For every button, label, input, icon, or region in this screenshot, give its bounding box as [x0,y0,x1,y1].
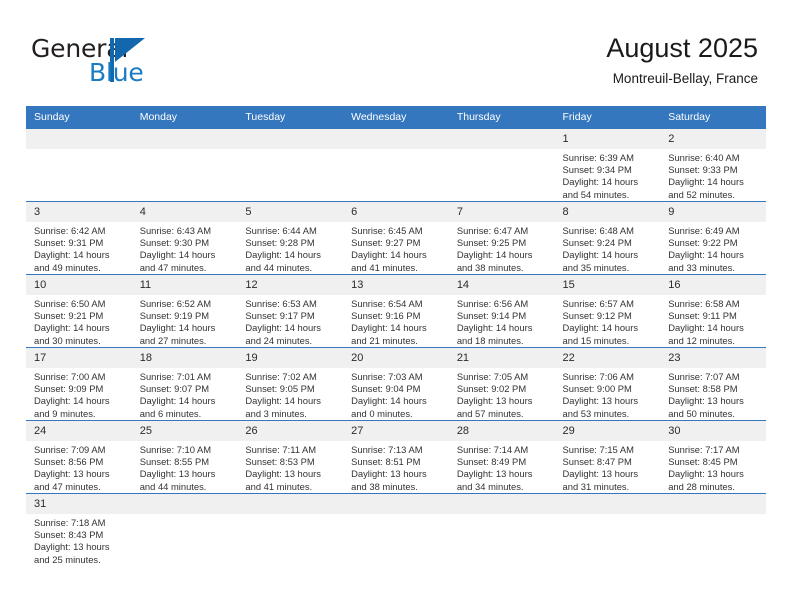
daylight-text-line1: Daylight: 14 hours [563,176,655,188]
calendar-day-cell[interactable]: 8Sunrise: 6:48 AMSunset: 9:24 PMDaylight… [555,202,661,275]
weekday-header-wednesday: Wednesday [343,106,449,129]
day-info: Sunrise: 7:05 AMSunset: 9:02 PMDaylight:… [449,368,555,420]
calendar-day-cell[interactable]: 28Sunrise: 7:14 AMSunset: 8:49 PMDayligh… [449,421,555,494]
daylight-text-line1: Daylight: 13 hours [245,468,337,480]
sunrise-text: Sunrise: 6:56 AM [457,298,549,310]
daylight-text-line1: Daylight: 14 hours [34,322,126,334]
day-number: 23 [660,348,766,368]
sunset-text: Sunset: 9:19 PM [140,310,232,322]
sunrise-text: Sunrise: 7:10 AM [140,444,232,456]
daylight-text-line1: Daylight: 14 hours [668,249,760,261]
day-info: Sunrise: 6:47 AMSunset: 9:25 PMDaylight:… [449,222,555,274]
day-info: Sunrise: 6:53 AMSunset: 9:17 PMDaylight:… [237,295,343,347]
daylight-text-line2: and 34 minutes. [457,481,549,493]
day-info: Sunrise: 6:48 AMSunset: 9:24 PMDaylight:… [555,222,661,274]
calendar-day-cell[interactable]: 19Sunrise: 7:02 AMSunset: 9:05 PMDayligh… [237,348,343,421]
calendar-day-cell[interactable]: 24Sunrise: 7:09 AMSunset: 8:56 PMDayligh… [26,421,132,494]
daylight-text-line2: and 21 minutes. [351,335,443,347]
weekday-header-monday: Monday [132,106,238,129]
day-info: Sunrise: 6:58 AMSunset: 9:11 PMDaylight:… [660,295,766,347]
calendar-week-row: 1Sunrise: 6:39 AMSunset: 9:34 PMDaylight… [26,129,766,202]
daylight-text-line2: and 24 minutes. [245,335,337,347]
sunrise-text: Sunrise: 7:05 AM [457,371,549,383]
calendar-cell-empty [26,129,132,202]
calendar-day-cell[interactable]: 17Sunrise: 7:00 AMSunset: 9:09 PMDayligh… [26,348,132,421]
day-info: Sunrise: 7:18 AMSunset: 8:43 PMDaylight:… [26,514,132,566]
daylight-text-line1: Daylight: 14 hours [563,322,655,334]
calendar-day-cell[interactable]: 9Sunrise: 6:49 AMSunset: 9:22 PMDaylight… [660,202,766,275]
daylight-text-line1: Daylight: 14 hours [668,322,760,334]
sunrise-text: Sunrise: 6:39 AM [563,152,655,164]
day-number: 20 [343,348,449,368]
calendar-day-cell[interactable]: 20Sunrise: 7:03 AMSunset: 9:04 PMDayligh… [343,348,449,421]
weekday-header-thursday: Thursday [449,106,555,129]
calendar-day-cell[interactable]: 2Sunrise: 6:40 AMSunset: 9:33 PMDaylight… [660,129,766,202]
day-info: Sunrise: 7:03 AMSunset: 9:04 PMDaylight:… [343,368,449,420]
sunrise-text: Sunrise: 7:15 AM [563,444,655,456]
day-info: Sunrise: 7:02 AMSunset: 9:05 PMDaylight:… [237,368,343,420]
daylight-text-line2: and 38 minutes. [457,262,549,274]
calendar-week-row: 24Sunrise: 7:09 AMSunset: 8:56 PMDayligh… [26,421,766,494]
sunrise-text: Sunrise: 6:40 AM [668,152,760,164]
sunset-text: Sunset: 8:47 PM [563,456,655,468]
daylight-text-line1: Daylight: 13 hours [668,468,760,480]
day-number [449,494,555,514]
title-block: August 2025 Montreuil-Bellay, France [606,32,758,88]
sunset-text: Sunset: 9:12 PM [563,310,655,322]
daylight-text-line1: Daylight: 14 hours [351,249,443,261]
calendar-day-cell[interactable]: 5Sunrise: 6:44 AMSunset: 9:28 PMDaylight… [237,202,343,275]
daylight-text-line1: Daylight: 14 hours [351,322,443,334]
sunset-text: Sunset: 9:31 PM [34,237,126,249]
logo-text-blue: Blue [89,58,144,87]
page-header: General Blue August 2025 Montreuil-Bella… [0,0,792,106]
day-number [343,494,449,514]
daylight-text-line2: and 47 minutes. [140,262,232,274]
sunset-text: Sunset: 8:45 PM [668,456,760,468]
sunrise-text: Sunrise: 6:57 AM [563,298,655,310]
page-subtitle: Montreuil-Bellay, France [606,70,758,88]
day-number: 26 [237,421,343,441]
sunrise-text: Sunrise: 6:47 AM [457,225,549,237]
weekday-header-friday: Friday [555,106,661,129]
sunrise-text: Sunrise: 6:53 AM [245,298,337,310]
sunset-text: Sunset: 9:33 PM [668,164,760,176]
daylight-text-line1: Daylight: 14 hours [34,249,126,261]
daylight-text-line2: and 33 minutes. [668,262,760,274]
daylight-text-line2: and 31 minutes. [563,481,655,493]
day-info: Sunrise: 7:00 AMSunset: 9:09 PMDaylight:… [26,368,132,420]
sunrise-text: Sunrise: 6:49 AM [668,225,760,237]
day-info: Sunrise: 7:17 AMSunset: 8:45 PMDaylight:… [660,441,766,493]
daylight-text-line2: and 53 minutes. [563,408,655,420]
day-info: Sunrise: 6:39 AMSunset: 9:34 PMDaylight:… [555,149,661,201]
calendar-day-cell[interactable]: 16Sunrise: 6:58 AMSunset: 9:11 PMDayligh… [660,275,766,348]
calendar-day-cell[interactable]: 22Sunrise: 7:06 AMSunset: 9:00 PMDayligh… [555,348,661,421]
day-number: 7 [449,202,555,222]
day-number: 15 [555,275,661,295]
sunset-text: Sunset: 9:07 PM [140,383,232,395]
daylight-text-line1: Daylight: 14 hours [563,249,655,261]
daylight-text-line2: and 12 minutes. [668,335,760,347]
daylight-text-line2: and 41 minutes. [351,262,443,274]
calendar-cell-empty [555,494,661,567]
daylight-text-line2: and 28 minutes. [668,481,760,493]
sunrise-text: Sunrise: 6:52 AM [140,298,232,310]
day-number: 24 [26,421,132,441]
calendar-day-cell[interactable]: 15Sunrise: 6:57 AMSunset: 9:12 PMDayligh… [555,275,661,348]
calendar-cell-empty [343,129,449,202]
sunrise-text: Sunrise: 7:14 AM [457,444,549,456]
sunset-text: Sunset: 8:43 PM [34,529,126,541]
daylight-text-line1: Daylight: 14 hours [140,322,232,334]
daylight-text-line2: and 44 minutes. [140,481,232,493]
calendar-day-cell[interactable]: 31Sunrise: 7:18 AMSunset: 8:43 PMDayligh… [26,494,132,567]
day-info: Sunrise: 6:54 AMSunset: 9:16 PMDaylight:… [343,295,449,347]
sunset-text: Sunset: 8:53 PM [245,456,337,468]
daylight-text-line1: Daylight: 13 hours [563,468,655,480]
daylight-text-line2: and 30 minutes. [34,335,126,347]
sunset-text: Sunset: 9:34 PM [563,164,655,176]
day-number: 3 [26,202,132,222]
day-info: Sunrise: 7:01 AMSunset: 9:07 PMDaylight:… [132,368,238,420]
daylight-text-line1: Daylight: 13 hours [351,468,443,480]
calendar-week-row: 10Sunrise: 6:50 AMSunset: 9:21 PMDayligh… [26,275,766,348]
day-info: Sunrise: 7:07 AMSunset: 8:58 PMDaylight:… [660,368,766,420]
day-number: 6 [343,202,449,222]
calendar-day-cell[interactable]: 12Sunrise: 6:53 AMSunset: 9:17 PMDayligh… [237,275,343,348]
calendar-day-cell[interactable]: 10Sunrise: 6:50 AMSunset: 9:21 PMDayligh… [26,275,132,348]
calendar-cell-empty [449,129,555,202]
daylight-text-line2: and 0 minutes. [351,408,443,420]
sunrise-text: Sunrise: 6:50 AM [34,298,126,310]
daylight-text-line2: and 6 minutes. [140,408,232,420]
daylight-text-line1: Daylight: 14 hours [245,249,337,261]
calendar-cell-empty [449,494,555,567]
daylight-text-line2: and 52 minutes. [668,189,760,201]
day-info: Sunrise: 6:56 AMSunset: 9:14 PMDaylight:… [449,295,555,347]
daylight-text-line1: Daylight: 14 hours [140,249,232,261]
calendar-day-cell[interactable]: 30Sunrise: 7:17 AMSunset: 8:45 PMDayligh… [660,421,766,494]
calendar-day-cell[interactable]: 14Sunrise: 6:56 AMSunset: 9:14 PMDayligh… [449,275,555,348]
day-number [555,494,661,514]
sunset-text: Sunset: 9:09 PM [34,383,126,395]
sunrise-text: Sunrise: 7:07 AM [668,371,760,383]
daylight-text-line2: and 47 minutes. [34,481,126,493]
day-info: Sunrise: 6:45 AMSunset: 9:27 PMDaylight:… [343,222,449,274]
sunset-text: Sunset: 9:14 PM [457,310,549,322]
daylight-text-line1: Daylight: 14 hours [668,176,760,188]
daylight-text-line2: and 50 minutes. [668,408,760,420]
sunset-text: Sunset: 9:28 PM [245,237,337,249]
day-number: 29 [555,421,661,441]
day-number: 5 [237,202,343,222]
sunrise-text: Sunrise: 6:42 AM [34,225,126,237]
day-info: Sunrise: 6:43 AMSunset: 9:30 PMDaylight:… [132,222,238,274]
day-number: 16 [660,275,766,295]
day-number: 10 [26,275,132,295]
calendar-day-cell[interactable]: 26Sunrise: 7:11 AMSunset: 8:53 PMDayligh… [237,421,343,494]
daylight-text-line2: and 27 minutes. [140,335,232,347]
calendar-day-cell[interactable]: 3Sunrise: 6:42 AMSunset: 9:31 PMDaylight… [26,202,132,275]
daylight-text-line1: Daylight: 13 hours [457,468,549,480]
day-number: 25 [132,421,238,441]
day-number [660,494,766,514]
sunrise-text: Sunrise: 7:18 AM [34,517,126,529]
sunset-text: Sunset: 9:27 PM [351,237,443,249]
day-info: Sunrise: 6:42 AMSunset: 9:31 PMDaylight:… [26,222,132,274]
daylight-text-line2: and 9 minutes. [34,408,126,420]
sunrise-text: Sunrise: 7:02 AM [245,371,337,383]
daylight-text-line2: and 57 minutes. [457,408,549,420]
sunset-text: Sunset: 9:00 PM [563,383,655,395]
daylight-text-line1: Daylight: 14 hours [457,322,549,334]
day-info: Sunrise: 7:11 AMSunset: 8:53 PMDaylight:… [237,441,343,493]
day-info: Sunrise: 7:09 AMSunset: 8:56 PMDaylight:… [26,441,132,493]
day-number: 9 [660,202,766,222]
day-number: 22 [555,348,661,368]
daylight-text-line1: Daylight: 13 hours [140,468,232,480]
calendar-day-cell[interactable]: 7Sunrise: 6:47 AMSunset: 9:25 PMDaylight… [449,202,555,275]
day-number: 30 [660,421,766,441]
calendar-day-cell[interactable]: 6Sunrise: 6:45 AMSunset: 9:27 PMDaylight… [343,202,449,275]
weekday-header-tuesday: Tuesday [237,106,343,129]
calendar-page: General Blue August 2025 Montreuil-Bella… [0,0,792,612]
sunrise-text: Sunrise: 7:17 AM [668,444,760,456]
calendar-cell-empty [237,494,343,567]
sunrise-text: Sunrise: 6:43 AM [140,225,232,237]
day-number: 13 [343,275,449,295]
day-number: 31 [26,494,132,514]
day-number [132,129,238,149]
sunset-text: Sunset: 9:16 PM [351,310,443,322]
calendar-cell-empty [343,494,449,567]
sunrise-text: Sunrise: 6:54 AM [351,298,443,310]
calendar-cell-empty [132,129,238,202]
calendar-day-cell[interactable]: 18Sunrise: 7:01 AMSunset: 9:07 PMDayligh… [132,348,238,421]
day-number: 17 [26,348,132,368]
calendar-day-cell[interactable]: 4Sunrise: 6:43 AMSunset: 9:30 PMDaylight… [132,202,238,275]
daylight-text-line1: Daylight: 13 hours [34,541,126,553]
sunrise-text: Sunrise: 6:48 AM [563,225,655,237]
sunrise-text: Sunrise: 6:58 AM [668,298,760,310]
calendar-day-cell[interactable]: 27Sunrise: 7:13 AMSunset: 8:51 PMDayligh… [343,421,449,494]
daylight-text-line1: Daylight: 13 hours [34,468,126,480]
sunset-text: Sunset: 9:24 PM [563,237,655,249]
sunrise-text: Sunrise: 6:44 AM [245,225,337,237]
daylight-text-line2: and 41 minutes. [245,481,337,493]
calendar-grid: Sunday Monday Tuesday Wednesday Thursday… [26,106,766,566]
calendar-cell-empty [237,129,343,202]
daylight-text-line2: and 54 minutes. [563,189,655,201]
sunrise-text: Sunrise: 7:06 AM [563,371,655,383]
calendar-cell-empty [132,494,238,567]
calendar-day-cell[interactable]: 21Sunrise: 7:05 AMSunset: 9:02 PMDayligh… [449,348,555,421]
daylight-text-line2: and 38 minutes. [351,481,443,493]
sunset-text: Sunset: 8:51 PM [351,456,443,468]
daylight-text-line2: and 3 minutes. [245,408,337,420]
day-info: Sunrise: 6:44 AMSunset: 9:28 PMDaylight:… [237,222,343,274]
sunrise-text: Sunrise: 7:13 AM [351,444,443,456]
calendar-body: 1Sunrise: 6:39 AMSunset: 9:34 PMDaylight… [26,129,766,567]
day-number: 19 [237,348,343,368]
calendar-week-row: 31Sunrise: 7:18 AMSunset: 8:43 PMDayligh… [26,494,766,567]
daylight-text-line1: Daylight: 14 hours [457,249,549,261]
calendar-day-cell[interactable]: 23Sunrise: 7:07 AMSunset: 8:58 PMDayligh… [660,348,766,421]
sunset-text: Sunset: 9:02 PM [457,383,549,395]
day-info: Sunrise: 7:10 AMSunset: 8:55 PMDaylight:… [132,441,238,493]
general-blue-logo[interactable]: General Blue [31,34,221,90]
calendar-week-row: 3Sunrise: 6:42 AMSunset: 9:31 PMDaylight… [26,202,766,275]
daylight-text-line2: and 44 minutes. [245,262,337,274]
day-number [237,494,343,514]
calendar-day-cell[interactable]: 11Sunrise: 6:52 AMSunset: 9:19 PMDayligh… [132,275,238,348]
sunset-text: Sunset: 8:56 PM [34,456,126,468]
day-info: Sunrise: 6:57 AMSunset: 9:12 PMDaylight:… [555,295,661,347]
sunrise-text: Sunrise: 7:01 AM [140,371,232,383]
sunset-text: Sunset: 8:55 PM [140,456,232,468]
day-info: Sunrise: 7:15 AMSunset: 8:47 PMDaylight:… [555,441,661,493]
day-number: 12 [237,275,343,295]
weekday-header-sunday: Sunday [26,106,132,129]
day-info: Sunrise: 6:49 AMSunset: 9:22 PMDaylight:… [660,222,766,274]
daylight-text-line1: Daylight: 14 hours [245,322,337,334]
day-number: 14 [449,275,555,295]
day-number: 4 [132,202,238,222]
daylight-text-line2: and 25 minutes. [34,554,126,566]
calendar-day-cell[interactable]: 1Sunrise: 6:39 AMSunset: 9:34 PMDaylight… [555,129,661,202]
sunrise-text: Sunrise: 7:11 AM [245,444,337,456]
day-number: 21 [449,348,555,368]
calendar-cell-empty [660,494,766,567]
day-number [449,129,555,149]
day-number: 1 [555,129,661,149]
daylight-text-line1: Daylight: 14 hours [245,395,337,407]
daylight-text-line1: Daylight: 13 hours [563,395,655,407]
daylight-text-line1: Daylight: 13 hours [457,395,549,407]
day-number: 8 [555,202,661,222]
calendar-day-cell[interactable]: 29Sunrise: 7:15 AMSunset: 8:47 PMDayligh… [555,421,661,494]
sunrise-text: Sunrise: 7:03 AM [351,371,443,383]
sunset-text: Sunset: 9:11 PM [668,310,760,322]
day-info: Sunrise: 6:50 AMSunset: 9:21 PMDaylight:… [26,295,132,347]
sunrise-text: Sunrise: 7:09 AM [34,444,126,456]
sunrise-text: Sunrise: 7:00 AM [34,371,126,383]
sunset-text: Sunset: 9:05 PM [245,383,337,395]
day-number [343,129,449,149]
weekday-header-row: Sunday Monday Tuesday Wednesday Thursday… [26,106,766,129]
daylight-text-line2: and 15 minutes. [563,335,655,347]
daylight-text-line1: Daylight: 13 hours [668,395,760,407]
day-number: 18 [132,348,238,368]
calendar-day-cell[interactable]: 13Sunrise: 6:54 AMSunset: 9:16 PMDayligh… [343,275,449,348]
daylight-text-line2: and 35 minutes. [563,262,655,274]
daylight-text-line2: and 49 minutes. [34,262,126,274]
sunrise-text: Sunrise: 6:45 AM [351,225,443,237]
daylight-text-line1: Daylight: 14 hours [34,395,126,407]
day-info: Sunrise: 7:13 AMSunset: 8:51 PMDaylight:… [343,441,449,493]
calendar-week-row: 17Sunrise: 7:00 AMSunset: 9:09 PMDayligh… [26,348,766,421]
day-info: Sunrise: 7:14 AMSunset: 8:49 PMDaylight:… [449,441,555,493]
day-number: 27 [343,421,449,441]
sunset-text: Sunset: 9:30 PM [140,237,232,249]
day-number: 11 [132,275,238,295]
weekday-header-saturday: Saturday [660,106,766,129]
day-info: Sunrise: 7:06 AMSunset: 9:00 PMDaylight:… [555,368,661,420]
sunset-text: Sunset: 8:49 PM [457,456,549,468]
sunset-text: Sunset: 9:21 PM [34,310,126,322]
sunset-text: Sunset: 9:22 PM [668,237,760,249]
day-number: 28 [449,421,555,441]
day-info: Sunrise: 6:52 AMSunset: 9:19 PMDaylight:… [132,295,238,347]
day-number [237,129,343,149]
calendar-day-cell[interactable]: 25Sunrise: 7:10 AMSunset: 8:55 PMDayligh… [132,421,238,494]
daylight-text-line2: and 18 minutes. [457,335,549,347]
day-number [26,129,132,149]
day-number: 2 [660,129,766,149]
sunset-text: Sunset: 9:17 PM [245,310,337,322]
sunset-text: Sunset: 8:58 PM [668,383,760,395]
page-title: August 2025 [606,32,758,64]
daylight-text-line1: Daylight: 14 hours [351,395,443,407]
sunset-text: Sunset: 9:04 PM [351,383,443,395]
daylight-text-line1: Daylight: 14 hours [140,395,232,407]
day-number [132,494,238,514]
day-info: Sunrise: 6:40 AMSunset: 9:33 PMDaylight:… [660,149,766,201]
sunset-text: Sunset: 9:25 PM [457,237,549,249]
